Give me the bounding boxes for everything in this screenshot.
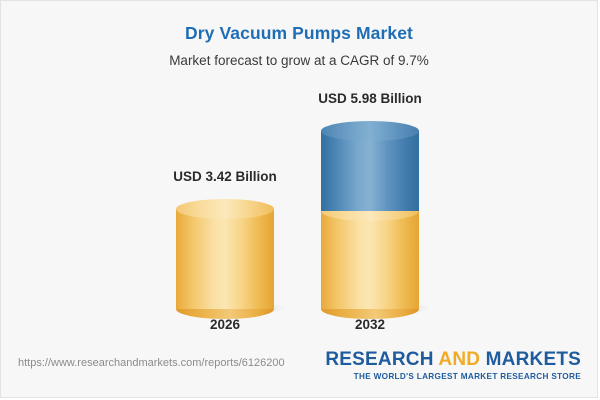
brand-logo-wordmark: RESEARCH AND MARKETS [325, 349, 581, 371]
category-label-2032: 2032 [321, 317, 419, 332]
brand-logo-tagline: THE WORLD'S LARGEST MARKET RESEARCH STOR… [325, 371, 581, 383]
cylinder-top-ellipse-blue [321, 121, 419, 141]
brand-logo-word-and: AND [438, 349, 480, 370]
cylinder-body-yellow [321, 211, 419, 309]
bar-value-label-2032: USD 5.98 Billion [281, 91, 459, 106]
footer: https://www.researchandmarkets.com/repor… [1, 345, 599, 397]
bar-chart: USD 3.42 Billion 2026 USD 5.98 Billion 2… [1, 1, 599, 346]
bar-value-label-2026: USD 3.42 Billion [136, 169, 314, 184]
brand-logo-word-research: RESEARCH [325, 349, 433, 370]
cylinder-top-ellipse-yellow [176, 199, 274, 219]
category-label-2026: 2026 [176, 317, 274, 332]
cylinder-body-yellow [176, 209, 274, 309]
brand-logo[interactable]: RESEARCH AND MARKETS THE WORLD'S LARGEST… [325, 349, 581, 383]
source-url[interactable]: https://www.researchandmarkets.com/repor… [18, 357, 285, 369]
infographic-canvas: Dry Vacuum Pumps Market Market forecast … [0, 0, 598, 398]
brand-logo-word-markets: MARKETS [486, 349, 581, 370]
cylinder-body-blue [321, 131, 419, 211]
